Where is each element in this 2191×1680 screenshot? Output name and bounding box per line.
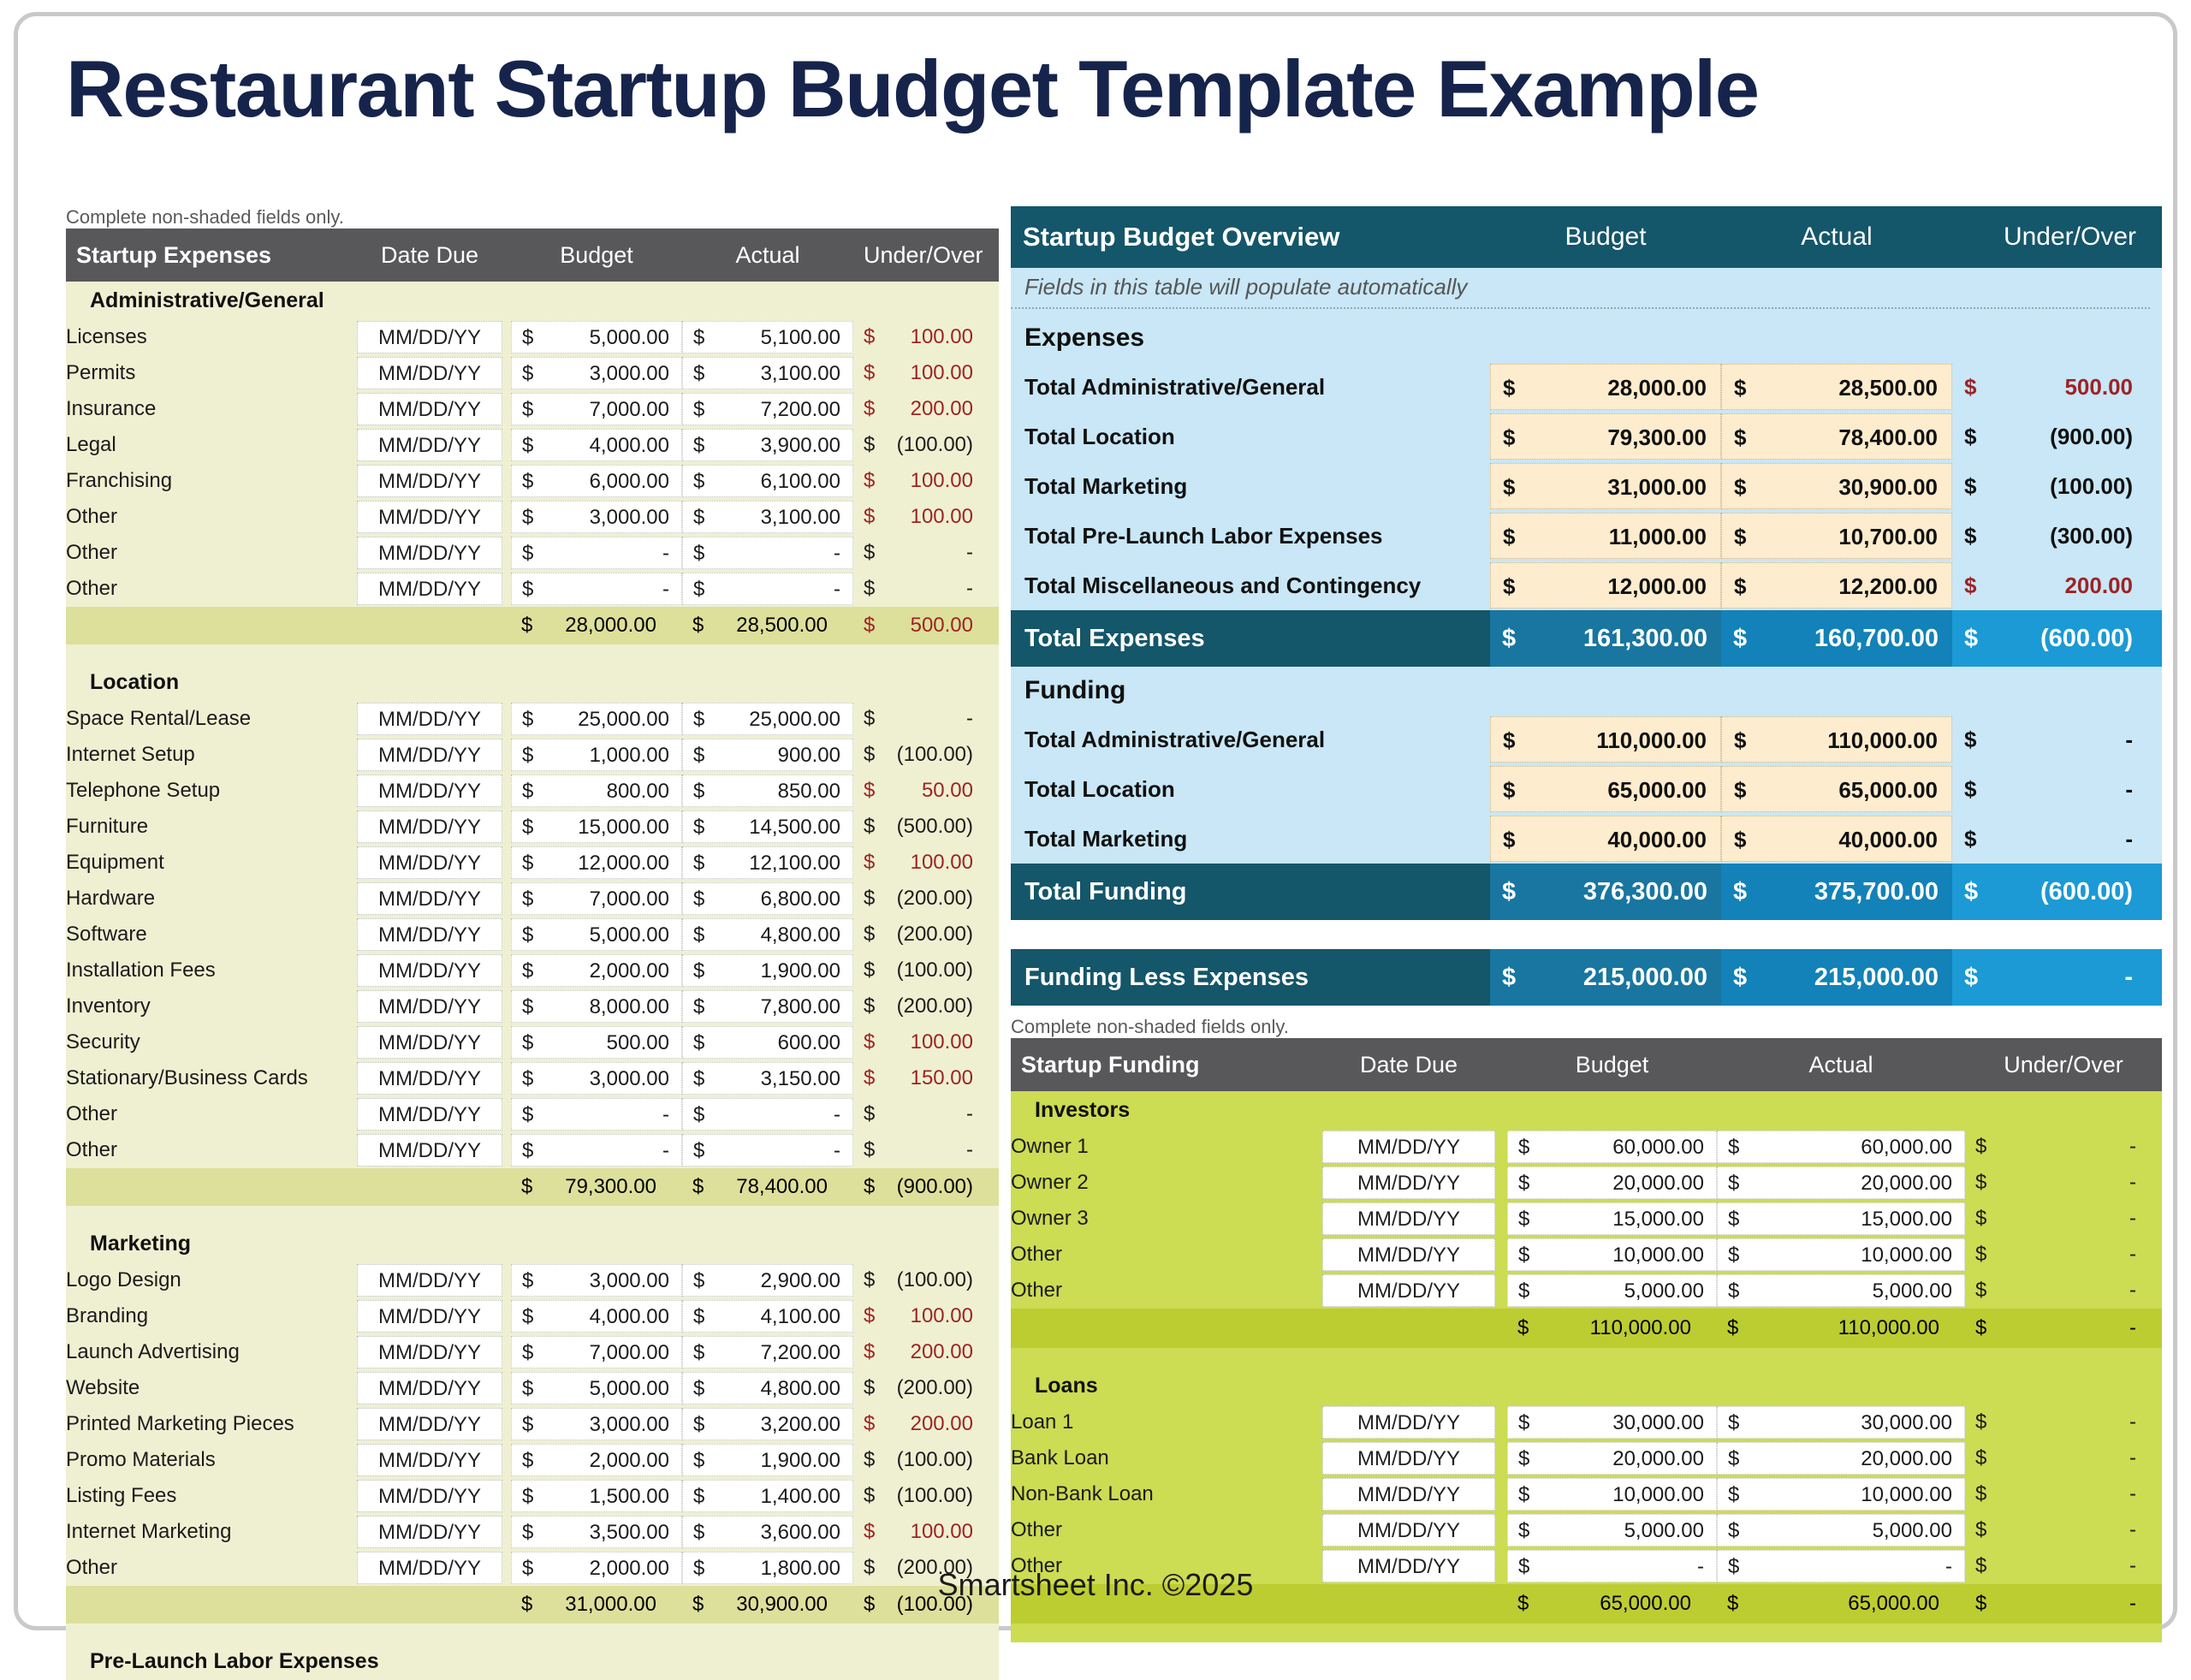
table-row: Promo MaterialsMM/DD/YY$2,000.00$1,900.0… <box>66 1442 999 1478</box>
budget-cell[interactable]: $60,000.00 <box>1507 1129 1717 1165</box>
actual-input[interactable]: $3,150.00 <box>682 1062 853 1095</box>
currency-symbol: $ <box>693 991 704 1024</box>
actual-cell[interactable]: $7,800.00 <box>682 988 853 1024</box>
actual-cell[interactable]: $3,600.00 <box>682 1514 853 1550</box>
actual-input[interactable]: $- <box>682 1134 853 1167</box>
actual-input[interactable]: $10,000.00 <box>1717 1478 1965 1511</box>
budget-input[interactable]: $1,000.00 <box>511 739 682 771</box>
actual-input[interactable]: $- <box>682 537 853 569</box>
actual-value[interactable]: $40,000.00 <box>1721 816 1952 862</box>
date-due-cell[interactable]: MM/DD/YY <box>348 773 511 809</box>
actual-input[interactable]: $15,000.00 <box>1717 1202 1965 1235</box>
budget-input[interactable]: $- <box>511 1134 682 1167</box>
date-input[interactable]: MM/DD/YY <box>357 1516 502 1548</box>
amount-value: 7,800.00 <box>693 991 840 1024</box>
actual-cell[interactable]: $25,000.00 <box>682 701 853 737</box>
date-due-cell[interactable]: MM/DD/YY <box>348 988 511 1024</box>
actual-input[interactable]: $3,900.00 <box>682 429 853 461</box>
budget-cell[interactable]: $1,500.00 <box>511 1478 682 1514</box>
budget-cell[interactable]: $3,000.00 <box>511 1406 682 1442</box>
budget-cell[interactable]: $20,000.00 <box>1507 1165 1717 1201</box>
budget-cell[interactable]: $3,000.00 <box>511 499 682 535</box>
actual-input[interactable]: $600.00 <box>682 1026 853 1059</box>
actual-value[interactable]: $10,700.00 <box>1721 513 1952 559</box>
actual-input[interactable]: $- <box>682 573 853 605</box>
actual-input[interactable]: $2,900.00 <box>682 1264 853 1297</box>
actual-value[interactable]: $28,500.00 <box>1721 364 1952 410</box>
budget-input[interactable]: $4,000.00 <box>511 1300 682 1333</box>
budget-cell[interactable]: $800.00 <box>511 773 682 809</box>
actual-cell[interactable]: $1,400.00 <box>682 1478 853 1514</box>
actual-cell[interactable]: $30,000.00 <box>1717 1404 1965 1440</box>
date-due-cell[interactable]: MM/DD/YY <box>348 1132 511 1168</box>
budget-cell[interactable]: $2,000.00 <box>511 1442 682 1478</box>
currency-symbol: $ <box>522 739 533 772</box>
actual-cell[interactable]: $600.00 <box>682 1024 853 1060</box>
budget-cell[interactable]: $12,000.00 <box>511 845 682 881</box>
date-input[interactable]: MM/DD/YY <box>357 1372 502 1404</box>
budget-input[interactable]: $5,000.00 <box>511 1372 682 1404</box>
section-title: Marketing <box>66 1225 999 1262</box>
date-input[interactable]: MM/DD/YY <box>357 775 502 807</box>
date-due-cell[interactable]: MM/DD/YY <box>348 427 511 463</box>
budget-value[interactable]: $28,000.00 <box>1490 364 1721 410</box>
date-due-cell[interactable]: MM/DD/YY <box>348 1478 511 1514</box>
date-due-cell[interactable]: MM/DD/YY <box>1310 1129 1507 1165</box>
actual-cell[interactable]: $1,900.00 <box>682 1442 853 1478</box>
actual-cell[interactable]: $12,100.00 <box>682 845 853 881</box>
currency-symbol: $ <box>693 466 704 498</box>
actual-input[interactable]: $4,800.00 <box>682 918 853 951</box>
budget-input[interactable]: $10,000.00 <box>1507 1238 1717 1271</box>
date-input[interactable]: MM/DD/YY <box>357 1062 502 1095</box>
budget-input[interactable]: $15,000.00 <box>511 810 682 843</box>
amount-value: 12,200.00 <box>1734 563 1938 609</box>
under-over-value: $100.00 <box>853 1026 999 1059</box>
actual-input[interactable]: $30,000.00 <box>1717 1406 1965 1439</box>
date-due-cell[interactable]: MM/DD/YY <box>1310 1512 1507 1548</box>
under-over-cell: $- <box>853 535 999 571</box>
budget-value[interactable]: $79,300.00 <box>1490 413 1721 460</box>
budget-input[interactable]: $12,000.00 <box>511 846 682 879</box>
amount-value: 14,500.00 <box>693 811 840 844</box>
budget-cell[interactable]: $3,000.00 <box>511 1060 682 1096</box>
section-title: Administrative/General <box>66 282 999 319</box>
date-input[interactable]: MM/DD/YY <box>357 501 502 533</box>
budget-cell[interactable]: $1,000.00 <box>511 737 682 773</box>
actual-input[interactable]: $3,100.00 <box>682 357 853 389</box>
actual-input[interactable]: $60,000.00 <box>1717 1131 1965 1163</box>
date-input[interactable]: MM/DD/YY <box>1322 1514 1495 1546</box>
budget-cell: $40,000.00 <box>1490 814 1721 864</box>
amount-value: - <box>1964 716 2133 763</box>
actual-cell[interactable]: $15,000.00 <box>1717 1201 1965 1237</box>
budget-cell[interactable]: $8,000.00 <box>511 988 682 1024</box>
budget-cell[interactable]: $3,000.00 <box>511 355 682 391</box>
date-due-cell[interactable]: MM/DD/YY <box>348 391 511 427</box>
actual-input[interactable]: $20,000.00 <box>1717 1167 1965 1199</box>
budget-cell[interactable]: $6,000.00 <box>511 463 682 499</box>
budget-input[interactable]: $7,000.00 <box>511 882 682 915</box>
currency-symbol: $ <box>864 1444 875 1476</box>
date-input[interactable]: MM/DD/YY <box>357 1264 502 1297</box>
actual-input[interactable]: $7,800.00 <box>682 990 853 1023</box>
actual-input[interactable]: $10,000.00 <box>1717 1238 1965 1271</box>
date-input[interactable]: MM/DD/YY <box>357 703 502 735</box>
amount-value: 25,000.00 <box>693 703 840 736</box>
date-due-cell[interactable]: MM/DD/YY <box>348 1298 511 1334</box>
actual-cell[interactable]: $10,000.00 <box>1717 1237 1965 1273</box>
under-over-cell: $- <box>1965 1129 2162 1165</box>
budget-input[interactable]: $3,000.00 <box>511 501 682 533</box>
actual-input[interactable]: $14,500.00 <box>682 810 853 843</box>
actual-input[interactable]: $25,000.00 <box>682 703 853 735</box>
date-due-cell[interactable]: MM/DD/YY <box>1310 1201 1507 1237</box>
date-due-cell[interactable]: MM/DD/YY <box>1310 1404 1507 1440</box>
actual-input[interactable]: $3,100.00 <box>682 501 853 533</box>
currency-symbol: $ <box>693 919 704 952</box>
amount-value: 100.00 <box>864 501 973 533</box>
date-due-cell[interactable]: MM/DD/YY <box>348 1060 511 1096</box>
under-over-cell: $(200.00) <box>853 1370 999 1406</box>
actual-input[interactable]: $5,000.00 <box>1717 1274 1965 1307</box>
date-input[interactable]: MM/DD/YY <box>357 882 502 915</box>
currency-symbol: $ <box>1518 1443 1529 1475</box>
budget-value[interactable]: $40,000.00 <box>1490 816 1721 862</box>
budget-cell[interactable]: $20,000.00 <box>1507 1440 1717 1476</box>
budget-input[interactable]: $- <box>511 537 682 569</box>
under-over-value: $(200.00) <box>853 1372 999 1404</box>
budget-value[interactable]: $11,000.00 <box>1490 513 1721 559</box>
actual-value[interactable]: $65,000.00 <box>1721 766 1952 812</box>
actual-cell[interactable]: $3,150.00 <box>682 1060 853 1096</box>
budget-cell[interactable]: $- <box>511 535 682 571</box>
budget-cell[interactable]: $10,000.00 <box>1507 1476 1717 1512</box>
actual-cell[interactable]: $7,200.00 <box>682 391 853 427</box>
budget-cell[interactable]: $15,000.00 <box>511 809 682 845</box>
budget-cell[interactable]: $- <box>511 1096 682 1132</box>
date-due-cell[interactable]: MM/DD/YY <box>1310 1237 1507 1273</box>
date-input[interactable]: MM/DD/YY <box>1322 1478 1495 1511</box>
actual-cell[interactable]: $5,100.00 <box>682 319 853 355</box>
budget-input[interactable]: $60,000.00 <box>1507 1131 1717 1163</box>
budget-cell[interactable]: $2,000.00 <box>511 953 682 988</box>
actual-input[interactable]: $5,100.00 <box>682 321 853 353</box>
date-due-cell[interactable]: MM/DD/YY <box>1310 1273 1507 1309</box>
budget-cell[interactable]: $5,000.00 <box>511 917 682 953</box>
date-due-cell[interactable]: MM/DD/YY <box>348 917 511 953</box>
budget-input[interactable]: $3,000.00 <box>511 1062 682 1095</box>
currency-symbol: $ <box>864 321 875 353</box>
currency-symbol: $ <box>1517 1312 1529 1345</box>
row-label: Stationary/Business Cards <box>66 1060 348 1096</box>
date-due-cell[interactable]: MM/DD/YY <box>348 701 511 737</box>
budget-cell[interactable]: $5,000.00 <box>511 1370 682 1406</box>
budget-cell[interactable]: $7,000.00 <box>511 1334 682 1370</box>
date-input[interactable]: MM/DD/YY <box>357 537 502 569</box>
row-label: Loan 1 <box>1011 1404 1310 1440</box>
budget-value[interactable]: $110,000.00 <box>1490 716 1721 763</box>
budget-cell[interactable]: $25,000.00 <box>511 701 682 737</box>
budget-cell: $110,000.00 <box>1490 715 1721 764</box>
date-input[interactable]: MM/DD/YY <box>357 321 502 353</box>
date-due-cell[interactable]: MM/DD/YY <box>348 499 511 535</box>
actual-cell[interactable]: $60,000.00 <box>1717 1129 1965 1165</box>
currency-symbol: $ <box>693 430 704 462</box>
actual-input[interactable]: $900.00 <box>682 739 853 771</box>
actual-cell[interactable]: $10,000.00 <box>1717 1476 1965 1512</box>
date-due-cell[interactable]: MM/DD/YY <box>348 571 511 607</box>
date-due-cell[interactable]: MM/DD/YY <box>348 1514 511 1550</box>
budget-cell[interactable]: $500.00 <box>511 1024 682 1060</box>
budget-value[interactable]: $12,000.00 <box>1490 562 1721 608</box>
date-input[interactable]: MM/DD/YY <box>1322 1274 1495 1307</box>
currency-symbol: $ <box>693 1301 704 1333</box>
actual-input[interactable]: $6,800.00 <box>682 882 853 915</box>
budget-input[interactable]: $3,000.00 <box>511 1408 682 1440</box>
budget-cell[interactable]: $- <box>511 571 682 607</box>
actual-cell[interactable]: $- <box>682 571 853 607</box>
actual-cell[interactable]: $20,000.00 <box>1717 1440 1965 1476</box>
under-over-cell: $- <box>1952 764 2162 814</box>
date-due-cell[interactable]: MM/DD/YY <box>348 463 511 499</box>
date-input[interactable]: MM/DD/YY <box>1322 1131 1495 1163</box>
budget-cell[interactable]: $7,000.00 <box>511 881 682 917</box>
budget-input[interactable]: $- <box>511 1098 682 1131</box>
budget-input[interactable]: $5,000.00 <box>511 321 682 353</box>
amount-value: 3,500.00 <box>522 1517 669 1549</box>
section-header-row: Pre-Launch Labor Expenses <box>66 1642 999 1680</box>
budget-input[interactable]: $2,000.00 <box>511 1444 682 1476</box>
actual-input[interactable]: $- <box>682 1098 853 1131</box>
date-due-cell[interactable]: MM/DD/YY <box>348 1442 511 1478</box>
budget-cell[interactable]: $3,500.00 <box>511 1514 682 1550</box>
budget-input[interactable]: $4,000.00 <box>511 429 682 461</box>
date-input[interactable]: MM/DD/YY <box>357 393 502 425</box>
budget-input[interactable]: $30,000.00 <box>1507 1406 1717 1439</box>
budget-cell[interactable]: $4,000.00 <box>511 427 682 463</box>
date-input[interactable]: MM/DD/YY <box>1322 1202 1495 1235</box>
date-input[interactable]: MM/DD/YY <box>357 1134 502 1167</box>
date-input[interactable]: MM/DD/YY <box>357 573 502 605</box>
currency-symbol: $ <box>1503 717 1515 763</box>
amount-value: - <box>1975 1238 2136 1271</box>
actual-cell[interactable]: $3,100.00 <box>682 499 853 535</box>
actual-cell[interactable]: $1,900.00 <box>682 953 853 988</box>
budget-input[interactable]: $5,000.00 <box>1507 1274 1717 1307</box>
date-due-cell[interactable]: MM/DD/YY <box>348 845 511 881</box>
date-input[interactable]: MM/DD/YY <box>357 1336 502 1368</box>
date-due-cell[interactable]: MM/DD/YY <box>1310 1476 1507 1512</box>
actual-cell[interactable]: $5,000.00 <box>1717 1512 1965 1548</box>
date-input[interactable]: MM/DD/YY <box>1322 1238 1495 1271</box>
actual-value[interactable]: $110,000.00 <box>1721 716 1952 763</box>
actual-value[interactable]: $78,400.00 <box>1721 413 1952 460</box>
amount-value: - <box>864 1098 973 1131</box>
date-input[interactable]: MM/DD/YY <box>357 810 502 843</box>
actual-input[interactable]: $7,200.00 <box>682 1336 853 1368</box>
budget-input[interactable]: $3,000.00 <box>511 357 682 389</box>
currency-symbol: $ <box>1503 414 1515 460</box>
actual-cell[interactable]: $7,200.00 <box>682 1334 853 1370</box>
date-input[interactable]: MM/DD/YY <box>1322 1406 1495 1439</box>
actual-input[interactable]: $4,800.00 <box>682 1372 853 1404</box>
date-due-cell[interactable]: MM/DD/YY <box>348 881 511 917</box>
date-due-cell[interactable]: MM/DD/YY <box>348 535 511 571</box>
actual-cell[interactable]: $3,900.00 <box>682 427 853 463</box>
date-input[interactable]: MM/DD/YY <box>357 1026 502 1059</box>
date-due-cell[interactable]: MM/DD/YY <box>348 1024 511 1060</box>
currency-symbol: $ <box>522 466 533 498</box>
currency-symbol: $ <box>1975 1131 1986 1163</box>
currency-symbol: $ <box>522 703 533 736</box>
currency-symbol: $ <box>864 918 875 951</box>
date-due-cell[interactable]: MM/DD/YY <box>348 319 511 355</box>
budget-input[interactable]: $- <box>511 573 682 605</box>
budget-input[interactable]: $5,000.00 <box>511 918 682 951</box>
budget-cell[interactable]: $7,000.00 <box>511 391 682 427</box>
budget-input[interactable]: $10,000.00 <box>1507 1478 1717 1511</box>
date-due-cell[interactable]: MM/DD/YY <box>348 1370 511 1406</box>
actual-value[interactable]: $30,900.00 <box>1721 463 1952 509</box>
actual-cell[interactable]: $850.00 <box>682 773 853 809</box>
budget-input[interactable]: $800.00 <box>511 775 682 807</box>
budget-input[interactable]: $20,000.00 <box>1507 1442 1717 1475</box>
actual-input[interactable]: $4,100.00 <box>682 1300 853 1333</box>
amount-value: 200.00 <box>864 1408 973 1440</box>
date-input[interactable]: MM/DD/YY <box>357 954 502 987</box>
under-over-value: $200.00 <box>853 393 999 425</box>
budget-input[interactable]: $7,000.00 <box>511 1336 682 1368</box>
actual-input[interactable]: $5,000.00 <box>1717 1514 1965 1546</box>
currency-symbol: $ <box>522 573 533 606</box>
date-input[interactable]: MM/DD/YY <box>357 1408 502 1440</box>
budget-cell[interactable]: $10,000.00 <box>1507 1237 1717 1273</box>
actual-cell[interactable]: $3,200.00 <box>682 1406 853 1442</box>
budget-input[interactable]: $3,500.00 <box>511 1516 682 1548</box>
date-due-cell[interactable]: MM/DD/YY <box>348 953 511 988</box>
actual-input[interactable]: $7,200.00 <box>682 393 853 425</box>
budget-cell[interactable]: $15,000.00 <box>1507 1201 1717 1237</box>
budget-input[interactable]: $8,000.00 <box>511 990 682 1023</box>
actual-cell[interactable]: $- <box>682 1096 853 1132</box>
actual-input[interactable]: $20,000.00 <box>1717 1442 1965 1475</box>
budget-input[interactable]: $3,000.00 <box>511 1264 682 1297</box>
date-due-cell[interactable]: MM/DD/YY <box>348 1262 511 1298</box>
budget-input[interactable]: $5,000.00 <box>1507 1514 1717 1546</box>
actual-input[interactable]: $850.00 <box>682 775 853 807</box>
currency-symbol: $ <box>693 739 704 772</box>
actual-cell[interactable]: $6,100.00 <box>682 463 853 499</box>
section-title: Location <box>66 663 999 701</box>
date-due-cell[interactable]: MM/DD/YY <box>1310 1165 1507 1201</box>
actual-input[interactable]: $1,900.00 <box>682 1444 853 1476</box>
header-budget: Budget <box>1507 1038 1717 1091</box>
budget-cell: $28,000.00 <box>1490 362 1721 412</box>
date-input[interactable]: MM/DD/YY <box>357 1098 502 1131</box>
actual-cell[interactable]: $- <box>682 1132 853 1168</box>
currency-symbol: $ <box>693 811 704 844</box>
budget-input[interactable]: $7,000.00 <box>511 393 682 425</box>
actual-input[interactable]: $1,900.00 <box>682 954 853 987</box>
date-due-cell[interactable]: MM/DD/YY <box>348 809 511 845</box>
budget-input[interactable]: $500.00 <box>511 1026 682 1059</box>
date-input[interactable]: MM/DD/YY <box>357 1444 502 1476</box>
actual-cell[interactable]: $6,800.00 <box>682 881 853 917</box>
actual-cell[interactable]: $- <box>682 535 853 571</box>
actual-cell[interactable]: $900.00 <box>682 737 853 773</box>
budget-cell[interactable]: $4,000.00 <box>511 1298 682 1334</box>
date-input[interactable]: MM/DD/YY <box>357 1300 502 1333</box>
actual-input[interactable]: $6,100.00 <box>682 465 853 497</box>
actual-cell[interactable]: $20,000.00 <box>1717 1165 1965 1201</box>
funding-note: Complete non-shaded fields only. <box>1011 1016 2162 1038</box>
actual-cell[interactable]: $4,800.00 <box>682 917 853 953</box>
date-input[interactable]: MM/DD/YY <box>357 990 502 1023</box>
currency-symbol: $ <box>522 1373 533 1405</box>
date-due-cell[interactable]: MM/DD/YY <box>348 1334 511 1370</box>
currency-symbol: $ <box>1734 767 1746 813</box>
date-input[interactable]: MM/DD/YY <box>357 846 502 879</box>
date-input[interactable]: MM/DD/YY <box>1322 1167 1495 1199</box>
budget-cell[interactable]: $5,000.00 <box>1507 1273 1717 1309</box>
budget-input[interactable]: $20,000.00 <box>1507 1167 1717 1199</box>
actual-value[interactable]: $12,200.00 <box>1721 562 1952 608</box>
actual-input[interactable]: $12,100.00 <box>682 846 853 879</box>
budget-input[interactable]: $1,500.00 <box>511 1480 682 1512</box>
date-due-cell[interactable]: MM/DD/YY <box>348 1096 511 1132</box>
row-label: Total Marketing <box>1011 814 1490 864</box>
currency-symbol: $ <box>1518 1479 1529 1511</box>
budget-input[interactable]: $6,000.00 <box>511 465 682 497</box>
date-input[interactable]: MM/DD/YY <box>1322 1442 1495 1475</box>
currency-symbol: $ <box>1734 563 1746 609</box>
budget-cell[interactable]: $5,000.00 <box>1507 1512 1717 1548</box>
actual-input[interactable]: $1,400.00 <box>682 1480 853 1512</box>
amount-value: 200.00 <box>864 393 973 425</box>
budget-cell[interactable]: $5,000.00 <box>511 319 682 355</box>
date-input[interactable]: MM/DD/YY <box>357 739 502 771</box>
date-input[interactable]: MM/DD/YY <box>357 429 502 461</box>
budget-value[interactable]: $31,000.00 <box>1490 463 1721 509</box>
budget-cell[interactable]: $30,000.00 <box>1507 1404 1717 1440</box>
date-input[interactable]: MM/DD/YY <box>357 465 502 497</box>
actual-cell[interactable]: $3,100.00 <box>682 355 853 391</box>
budget-input[interactable]: $15,000.00 <box>1507 1202 1717 1235</box>
budget-input[interactable]: $25,000.00 <box>511 703 682 735</box>
budget-cell[interactable]: $- <box>511 1132 682 1168</box>
date-input[interactable]: MM/DD/YY <box>357 357 502 389</box>
actual-cell[interactable]: $14,500.00 <box>682 809 853 845</box>
actual-cell[interactable]: $4,100.00 <box>682 1298 853 1334</box>
date-due-cell[interactable]: MM/DD/YY <box>348 737 511 773</box>
currency-symbol: $ <box>864 810 875 843</box>
date-due-cell[interactable]: MM/DD/YY <box>348 355 511 391</box>
actual-cell[interactable]: $2,900.00 <box>682 1262 853 1298</box>
budget-cell[interactable]: $3,000.00 <box>511 1262 682 1298</box>
budget-input[interactable]: $2,000.00 <box>511 954 682 987</box>
actual-cell[interactable]: $5,000.00 <box>1717 1273 1965 1309</box>
actual-input[interactable]: $3,600.00 <box>682 1516 853 1548</box>
amount-value: 1,000.00 <box>522 739 669 772</box>
budget-value[interactable]: $65,000.00 <box>1490 766 1721 812</box>
actual-cell[interactable]: $4,800.00 <box>682 1370 853 1406</box>
date-due-cell[interactable]: MM/DD/YY <box>1310 1440 1507 1476</box>
date-input[interactable]: MM/DD/YY <box>357 1480 502 1512</box>
actual-input[interactable]: $3,200.00 <box>682 1408 853 1440</box>
date-input[interactable]: MM/DD/YY <box>357 918 502 951</box>
date-due-cell[interactable]: MM/DD/YY <box>348 1406 511 1442</box>
